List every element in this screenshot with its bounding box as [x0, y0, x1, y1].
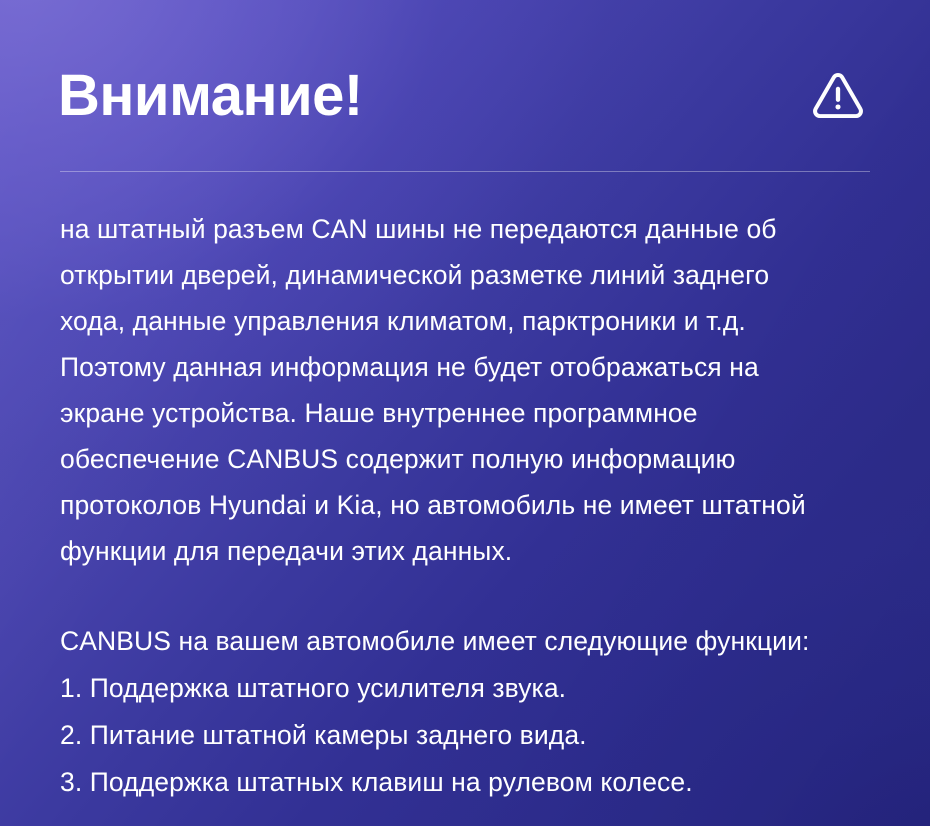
banner-content: на штатный разъем CAN шины не передаются…	[60, 206, 882, 805]
paragraph-line: открытии дверей, динамической разметке л…	[60, 252, 882, 298]
paragraph-line: хода, данные управления климатом, парктр…	[60, 298, 882, 344]
paragraph-line: функции для передачи этих данных.	[60, 528, 882, 574]
banner-header: Внимание!	[0, 48, 930, 144]
page-title: Внимание!	[58, 67, 363, 125]
paragraph-line: на штатный разъем CAN шины не передаются…	[60, 206, 882, 252]
paragraph-line: экране устройства. Наше внутреннее прогр…	[60, 390, 882, 436]
list-item: 3. Поддержка штатных клавиш на рулевом к…	[60, 759, 882, 805]
paragraph-line: протоколов Hyundai и Kia, но автомобиль …	[60, 482, 882, 528]
warning-paragraph: на штатный разъем CAN шины не передаются…	[60, 206, 882, 574]
paragraph-line: обеспечение CANBUS содержит полную инфор…	[60, 436, 882, 482]
features-block: CANBUS на вашем автомобиле имеет следующ…	[60, 618, 882, 805]
list-item: 1. Поддержка штатного усилителя звука.	[60, 665, 882, 711]
warning-triangle-icon	[808, 66, 874, 126]
features-intro: CANBUS на вашем автомобиле имеет следующ…	[60, 618, 882, 664]
features-list: 1. Поддержка штатного усилителя звука. 2…	[60, 665, 882, 805]
header-divider	[60, 171, 870, 172]
warning-banner: Внимание! на штатный разъем CAN шины не …	[0, 0, 930, 826]
paragraph-line: Поэтому данная информация не будет отобр…	[60, 344, 882, 390]
list-item: 2. Питание штатной камеры заднего вида.	[60, 712, 882, 758]
